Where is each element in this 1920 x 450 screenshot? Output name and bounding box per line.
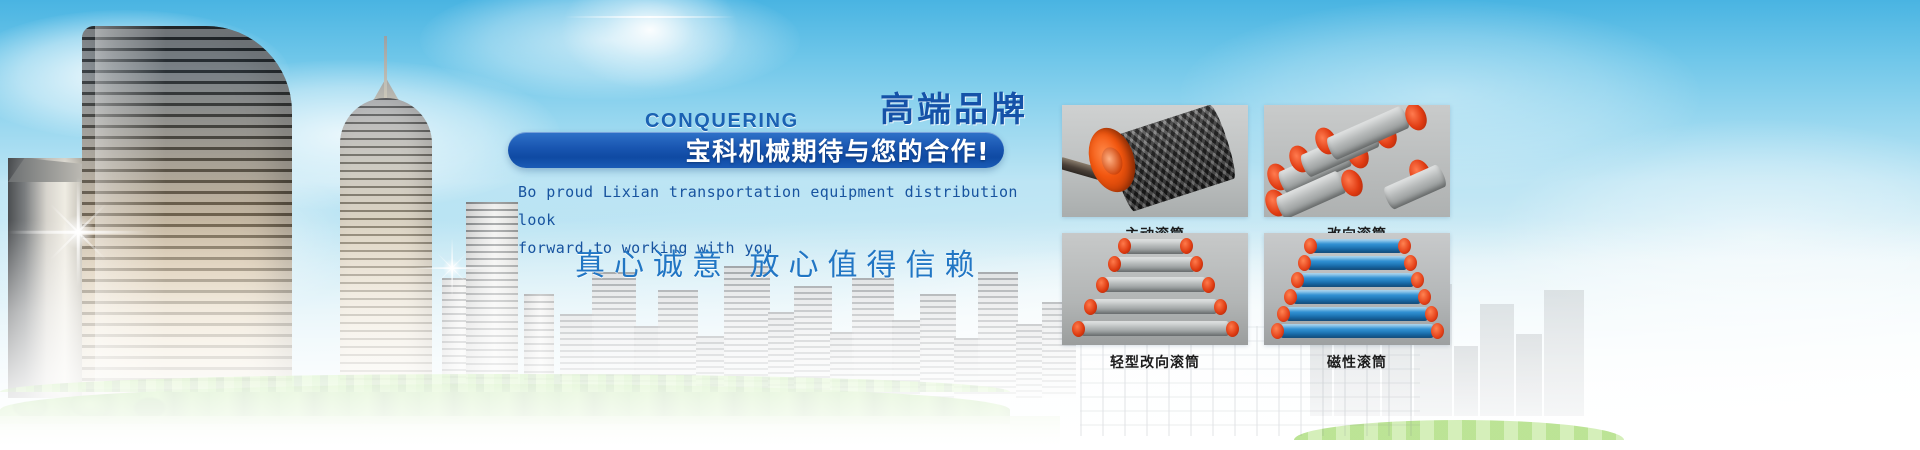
kicker-conquering: CONQUERING bbox=[645, 110, 799, 133]
building-spire-needle bbox=[384, 36, 387, 102]
headline-pill-text: 宝科机械期待与您的合作! bbox=[508, 132, 1004, 168]
product-card[interactable]: 轻型改向滚筒 bbox=[1062, 233, 1248, 353]
magnetic-pulley-icon[interactable] bbox=[1264, 233, 1450, 345]
english-tagline-line1: Bo proud Lixian transportation equipment… bbox=[518, 178, 1038, 234]
brand-headline-cn: 高端品牌 bbox=[880, 82, 1028, 131]
product-card[interactable]: 主动滚筒 bbox=[1062, 105, 1248, 225]
drive-pulley-icon[interactable] bbox=[1062, 105, 1248, 217]
product-card[interactable]: 磁性滚筒 bbox=[1264, 233, 1450, 353]
promotional-banner: CONQUERING 高端品牌 宝科机械期待与您的合作! Bo proud Li… bbox=[0, 0, 1920, 450]
product-card[interactable]: 改向滚筒 bbox=[1264, 105, 1450, 225]
product-grid: 主动滚筒 bbox=[1062, 105, 1450, 353]
slogan-cn: 真心诚意 放心值得信赖 bbox=[575, 240, 984, 284]
bend-pulley-icon[interactable] bbox=[1264, 105, 1450, 217]
product-caption: 磁性滚筒 bbox=[1264, 352, 1450, 372]
product-caption: 轻型改向滚筒 bbox=[1062, 352, 1248, 372]
light-bend-pulley-icon[interactable] bbox=[1062, 233, 1248, 345]
